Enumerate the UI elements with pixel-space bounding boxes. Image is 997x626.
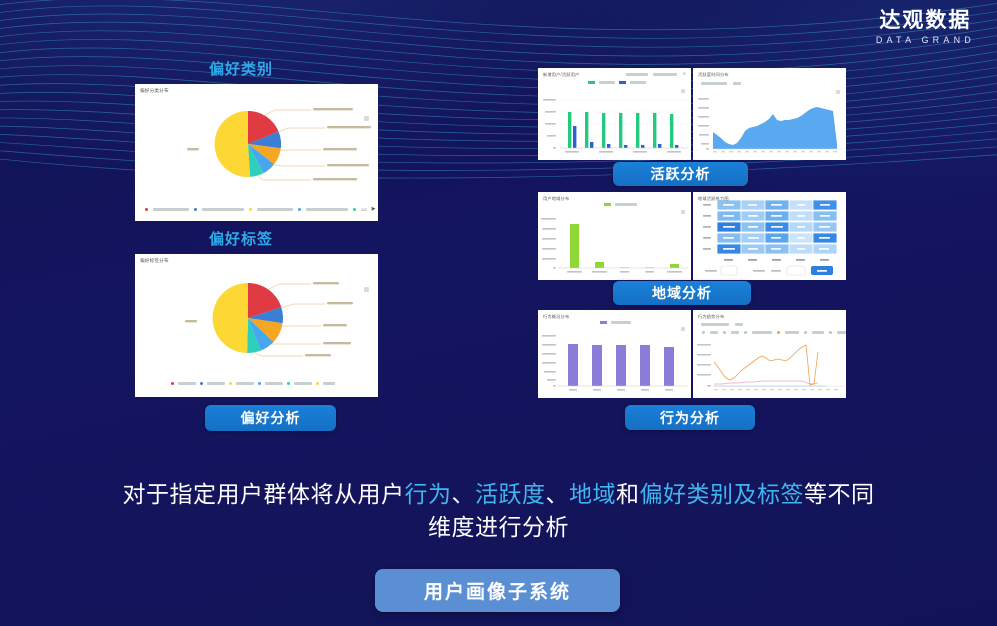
line-series-pvclick	[714, 345, 818, 385]
caption-region-analysis[interactable]: 地域分析	[613, 281, 751, 305]
chart-card-activity-area[interactable]: 活跃度时间分布	[693, 68, 846, 160]
chart-card-region-bar[interactable]: 用户地域分布	[538, 192, 691, 280]
para-text-2: 、	[452, 481, 476, 507]
para-highlight-behavior: 行为	[405, 481, 452, 507]
legend-text	[615, 203, 637, 206]
brand-logo-en: DATA GRAND	[876, 36, 975, 45]
legend-swatch	[145, 208, 148, 211]
legend-text	[812, 331, 824, 334]
legend-text	[785, 331, 799, 334]
para-highlight-activity: 活跃度	[475, 481, 546, 507]
chart-title-activity-bar: 新增用户/活跃用户	[543, 72, 579, 78]
chart-title-behavior-bar: 行为概况分布	[543, 314, 569, 320]
slide-root: 达观数据 DATA GRAND 偏好类别 偏好标签 偏好分类分布	[0, 0, 997, 626]
legend-text	[207, 382, 225, 385]
date-range-start[interactable]	[626, 73, 648, 76]
legend-swatch	[194, 208, 197, 211]
legend-behavior-line[interactable]	[702, 331, 846, 334]
legend-text	[611, 321, 631, 324]
legend-activity-bar[interactable]	[588, 81, 646, 84]
line-series-reading	[714, 381, 818, 384]
legend-text	[265, 382, 283, 385]
legend-swatch	[298, 208, 301, 211]
section-label-category: 偏好类别	[209, 58, 273, 79]
para-highlight-region: 地域	[569, 481, 616, 507]
description-paragraph: 对于指定用户群体将从用户行为、活跃度、地域和偏好类别及标签等不同维度进行分析	[120, 478, 877, 545]
legend-swatch-behavior	[600, 321, 607, 324]
legend-text	[236, 382, 254, 385]
legend-text	[752, 331, 772, 334]
area-chart-activity	[693, 92, 846, 158]
refresh-icon[interactable]: ⟳	[683, 71, 686, 76]
legend-swatch-active	[588, 81, 595, 84]
pie-chart-preference-tag	[135, 264, 378, 376]
legend-swatch	[353, 208, 356, 211]
legend-behavior-bar[interactable]	[600, 321, 631, 324]
bar-chart-region	[538, 212, 691, 278]
para-text-3: 、	[546, 481, 570, 507]
chart-title-behavior-line: 行为趋势分布	[698, 314, 724, 320]
legend-text	[306, 208, 348, 211]
legend-marker-buy	[702, 331, 705, 334]
pie-legend-preference-tag[interactable]	[171, 382, 335, 385]
legend-swatch	[200, 382, 203, 385]
chart-card-behavior-line[interactable]: 行为趋势分布	[693, 310, 846, 398]
legend-text	[323, 382, 335, 385]
brand-logo-cn: 达观数据	[876, 10, 975, 31]
date-range-end[interactable]	[653, 73, 677, 76]
legend-next-icon[interactable]: ▶	[372, 206, 376, 212]
chart-card-activity-bar[interactable]: 新增用户/活跃用户 ⟳	[538, 68, 691, 160]
section-label-tag: 偏好标签	[209, 228, 273, 249]
legend-marker-share	[829, 331, 832, 334]
legend-swatch	[287, 382, 290, 385]
legend-text	[294, 382, 312, 385]
legend-text	[710, 331, 718, 334]
legend-marker-collect	[744, 331, 747, 334]
filter-select[interactable]	[701, 82, 727, 85]
caption-activity-analysis[interactable]: 活跃分析	[613, 162, 748, 186]
legend-text	[599, 81, 615, 84]
filter-button[interactable]	[733, 82, 741, 85]
legend-text	[202, 208, 244, 211]
area-fill	[713, 107, 837, 149]
chart-card-region-heatmap[interactable]: 地域活跃热力图	[693, 192, 846, 280]
chart-title-activity-area: 活跃度时间分布	[698, 72, 729, 78]
chart-card-behavior-bar[interactable]: 行为概况分布	[538, 310, 691, 398]
system-button-user-profile[interactable]: 用户画像子系统	[375, 569, 620, 612]
legend-pager[interactable]: 1/2	[361, 207, 367, 212]
legend-marker-pvclick	[777, 331, 780, 334]
legend-region-bar[interactable]	[604, 203, 637, 206]
para-highlight-preference: 偏好类别及标签	[640, 481, 805, 507]
para-text-1: 对于指定用户群体将从用户	[123, 481, 405, 507]
legend-swatch	[229, 382, 232, 385]
pie-chart-preference-category	[135, 92, 378, 200]
legend-swatch-region	[604, 203, 611, 206]
chart-title-region-bar: 用户地域分布	[543, 196, 569, 202]
legend-swatch	[258, 382, 261, 385]
legend-marker-cart	[723, 331, 726, 334]
bar-chart-activity	[538, 92, 691, 158]
line-chart-behavior	[693, 340, 846, 398]
para-text-4: 和	[616, 481, 640, 507]
legend-swatch	[171, 382, 174, 385]
heatmap-region	[693, 192, 846, 280]
chart-card-preference-category[interactable]: 偏好分类分布	[135, 84, 378, 221]
chart-card-preference-tag[interactable]: 偏好标签分布	[135, 254, 378, 397]
legend-swatch-new	[619, 81, 626, 84]
legend-text	[153, 208, 189, 211]
legend-text	[257, 208, 293, 211]
chart-title-region-heatmap: 地域活跃热力图	[698, 196, 729, 202]
legend-text	[178, 382, 196, 385]
behavior-filter-select[interactable]	[701, 323, 729, 326]
brand-logo: 达观数据 DATA GRAND	[876, 10, 975, 45]
legend-text	[837, 331, 846, 334]
legend-text	[630, 81, 646, 84]
legend-swatch	[316, 382, 319, 385]
pie-legend-preference-category[interactable]: 1/2 ▶	[145, 206, 375, 212]
caption-preference-analysis[interactable]: 偏好分析	[205, 405, 336, 431]
legend-marker-reading	[804, 331, 807, 334]
legend-swatch	[249, 208, 252, 211]
legend-text	[731, 331, 739, 334]
caption-behavior-analysis[interactable]: 行为分析	[625, 405, 755, 430]
behavior-filter-button[interactable]	[735, 323, 743, 326]
bar-chart-behavior	[538, 330, 691, 396]
